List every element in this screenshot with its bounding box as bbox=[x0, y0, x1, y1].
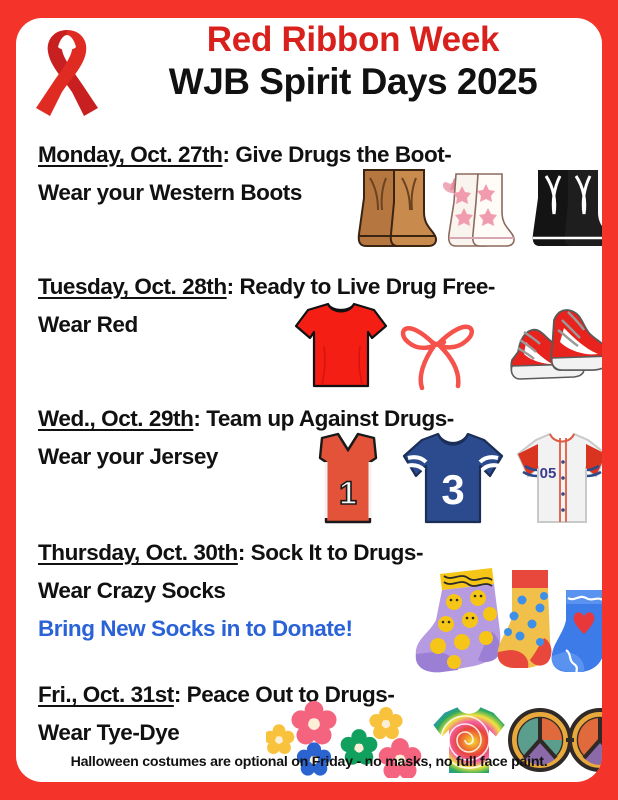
title-line-2: WJB Spirit Days 2025 bbox=[108, 60, 598, 104]
donate-note: Bring New Socks in to Donate! bbox=[38, 614, 602, 643]
day-instruction-monday: Wear your Western Boots bbox=[38, 178, 602, 207]
day-theme-monday: : Give Drugs the Boot- bbox=[222, 142, 451, 167]
day-block-wednesday: Wed., Oct. 29th: Team up Against Drugs- … bbox=[16, 404, 602, 526]
day-label-friday: Fri., Oct. 31st bbox=[38, 682, 174, 707]
day-label-thursday: Thursday, Oct. 30th bbox=[38, 540, 238, 565]
day-label-wednesday: Wed., Oct. 29th bbox=[38, 406, 193, 431]
poster-title: Red Ribbon Week WJB Spirit Days 2025 bbox=[108, 20, 598, 104]
day-headline-friday: Fri., Oct. 31st: Peace Out to Drugs- bbox=[38, 680, 602, 709]
day-instruction-wednesday: Wear your Jersey bbox=[38, 442, 602, 471]
red-ribbon-icon bbox=[24, 20, 110, 138]
day-theme-tuesday: : Ready to Live Drug Free- bbox=[227, 274, 495, 299]
day-instruction-thursday: Wear Crazy Socks bbox=[38, 576, 602, 605]
jersey-number-1: 1 bbox=[339, 475, 357, 511]
poster-header: Red Ribbon Week WJB Spirit Days 2025 bbox=[16, 18, 602, 126]
monday-art bbox=[350, 162, 602, 254]
day-headline-thursday: Thursday, Oct. 30th: Sock It to Drugs- bbox=[38, 538, 602, 567]
poster-border: Red Ribbon Week WJB Spirit Days 2025 Mon… bbox=[0, 0, 618, 800]
title-line-1: Red Ribbon Week bbox=[108, 20, 598, 60]
day-headline-monday: Monday, Oct. 27th: Give Drugs the Boot- bbox=[38, 140, 602, 169]
day-theme-friday: : Peace Out to Drugs- bbox=[174, 682, 395, 707]
day-block-thursday: Thursday, Oct. 30th: Sock It to Drugs- W… bbox=[16, 538, 602, 668]
day-instruction-friday: Wear Tye-Dye bbox=[38, 718, 602, 747]
day-block-monday: Monday, Oct. 27th: Give Drugs the Boot- … bbox=[16, 140, 602, 258]
day-theme-wednesday: : Team up Against Drugs- bbox=[193, 406, 453, 431]
footer-note: Halloween costumes are optional on Frida… bbox=[16, 754, 602, 770]
day-headline-tuesday: Tuesday, Oct. 28th: Ready to Live Drug F… bbox=[38, 272, 602, 301]
day-headline-wednesday: Wed., Oct. 29th: Team up Against Drugs- bbox=[38, 404, 602, 433]
day-label-monday: Monday, Oct. 27th bbox=[38, 142, 222, 167]
jersey-number-3: 3 bbox=[441, 466, 464, 513]
day-label-tuesday: Tuesday, Oct. 28th bbox=[38, 274, 227, 299]
day-theme-thursday: : Sock It to Drugs- bbox=[238, 540, 423, 565]
day-block-tuesday: Tuesday, Oct. 28th: Ready to Live Drug F… bbox=[16, 272, 602, 390]
poster-card: Red Ribbon Week WJB Spirit Days 2025 Mon… bbox=[16, 18, 602, 782]
day-instruction-tuesday: Wear Red bbox=[38, 310, 602, 339]
